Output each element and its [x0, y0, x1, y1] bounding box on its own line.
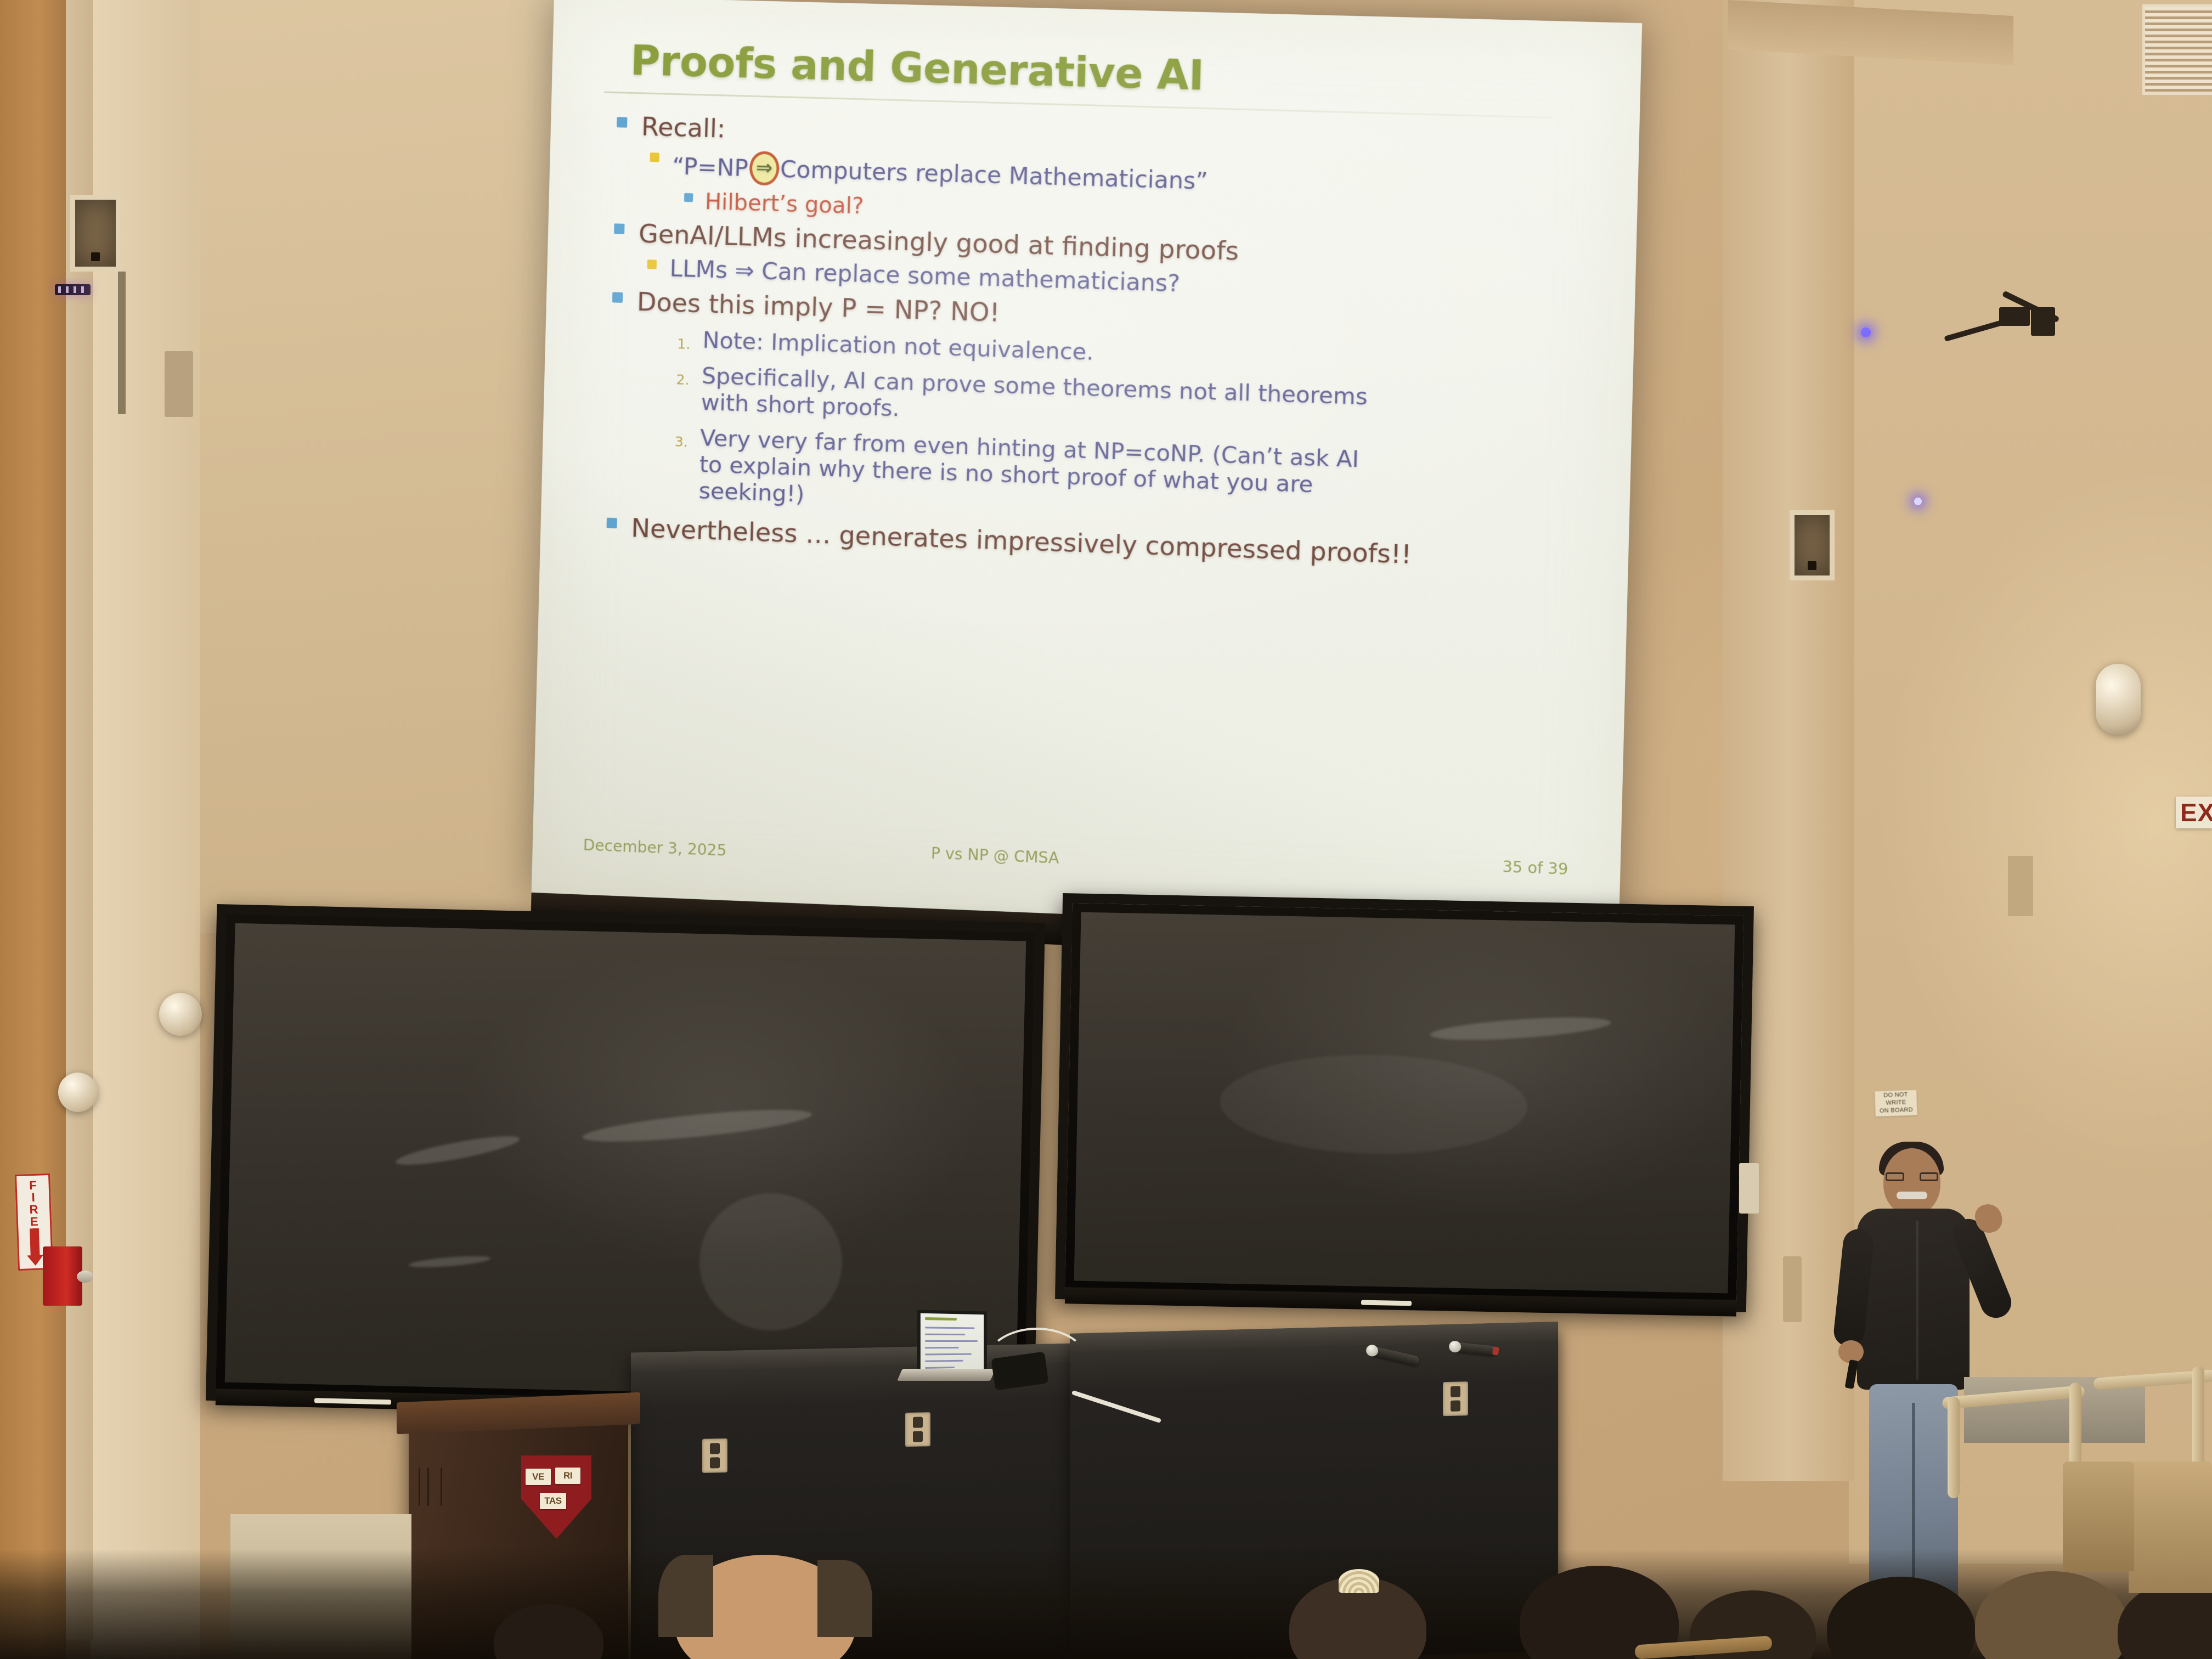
door-handle-plate [1783, 1256, 1802, 1322]
bullet-recall-label: Recall: [641, 112, 726, 143]
square-bullet-icon [614, 224, 625, 235]
numbered-item-3-text: Very very far from even hinting at NP=co… [698, 424, 1385, 527]
chalkboard-right [1055, 893, 1754, 1312]
numbered-item-1-text: Note: Implication not equivalence. [702, 327, 1094, 366]
square-bullet-icon [612, 292, 623, 303]
presenter-laptop-screen[interactable] [917, 1310, 987, 1375]
power-outlet [1443, 1381, 1468, 1416]
square-bullet-icon [647, 259, 657, 269]
lecture-hall-scene: EXIT FIRE DO NOT WRITE ON BOARD Proofs a… [0, 0, 2212, 1659]
screen-surface: Proofs and Generative AI Recall: “P=NP⇒C… [532, 0, 1643, 939]
presenter-laptop-keyboard[interactable] [897, 1369, 996, 1381]
numbered-item-3: 3. Very very far from even hinting at NP… [673, 424, 1580, 534]
square-bullet-icon [606, 518, 617, 529]
board-side-latch [1739, 1163, 1759, 1214]
slide-body: Recall: “P=NP⇒Computers replace Mathemat… [590, 111, 1588, 574]
dial-left [58, 1073, 98, 1112]
wall-speaker-right [1790, 510, 1835, 580]
led-light-strip-left [55, 284, 91, 295]
wall-sconce-right [2096, 664, 2141, 735]
slide-title: Proofs and Generative AI [630, 37, 1590, 110]
footer-date: December 3, 2025 [583, 836, 726, 860]
audience-hair [658, 1555, 713, 1637]
left-wall-pipe [118, 272, 126, 414]
crest-block-ri: RI [555, 1468, 580, 1484]
numbered-item-2-number: 2. [676, 371, 702, 388]
power-outlet [905, 1412, 930, 1447]
power-outlet [702, 1438, 727, 1473]
implies-arrow-icon: ⇒ [749, 151, 780, 186]
board-note-line1: DO NOT WRITE [1875, 1091, 1917, 1108]
footer-slide-number: 35 of 39 [1502, 857, 1568, 878]
ceiling-mount-bracket [1942, 307, 2030, 346]
audience-hair [817, 1560, 872, 1637]
white-indicator-led [1914, 498, 1922, 505]
left-wall-conduit [165, 351, 193, 417]
numbered-item-3-number: 3. [674, 433, 700, 450]
hvac-vent-icon [2142, 4, 2212, 95]
highlight-circle-annotation: ⇒ [749, 151, 780, 186]
square-bullet-icon [617, 117, 628, 128]
right-wall-plate [2008, 856, 2033, 916]
left-wood-pillar [0, 0, 66, 1659]
presenter-head [1883, 1148, 1940, 1215]
crest-block-tas: TAS [540, 1493, 566, 1509]
presentation-clicker[interactable] [1845, 1359, 1859, 1389]
presentation-slide: Proofs and Generative AI Recall: “P=NP⇒C… [532, 0, 1643, 939]
bullet-does-imply-label: Does this imply P = NP? NO! [636, 288, 1000, 328]
harvard-veritas-crest-icon: VE RI TAS [521, 1455, 591, 1539]
chalkboard-right-surface [1074, 912, 1735, 1294]
seat-back [2129, 1462, 2212, 1593]
slide-footer: December 3, 2025 P vs NP @ CMSA 35 of 39 [583, 822, 1568, 893]
do-not-write-sign: DO NOT WRITE ON BOARD [1875, 1090, 1917, 1117]
chalkboard-left-surface [225, 923, 1026, 1400]
fire-sign-label: FIRE [27, 1178, 39, 1227]
pnp-suffix: Computers replace Mathematicians” [780, 155, 1209, 194]
fire-alarm-pull-station [43, 1246, 82, 1306]
projection-screen: Proofs and Generative AI Recall: “P=NP⇒C… [532, 0, 1643, 939]
board-note-line2: ON BOARD [1880, 1107, 1914, 1115]
numbered-item-1-number: 1. [677, 336, 703, 353]
exit-sign: EXIT [2176, 797, 2212, 828]
numbered-item-2-text: Specifically, AI can prove some theorems… [701, 362, 1387, 437]
clock-face-left [159, 993, 202, 1036]
pnp-prefix: “P=NP [672, 153, 749, 182]
upper-left-wall [198, 0, 582, 933]
blue-indicator-led-right [1861, 328, 1871, 337]
down-arrow-icon [26, 1228, 43, 1266]
footer-title: P vs NP @ CMSA [930, 844, 1059, 867]
bullet-hilbert-label: Hilbert’s goal? [705, 189, 864, 218]
seat-back [2063, 1462, 2134, 1571]
crest-block-ve: VE [526, 1469, 551, 1485]
square-bullet-icon [650, 153, 659, 162]
eyeglasses-icon [1886, 1172, 1938, 1181]
kippah-icon [1339, 1569, 1379, 1593]
presenter-mustache [1897, 1192, 1927, 1199]
square-bullet-icon [684, 193, 693, 202]
